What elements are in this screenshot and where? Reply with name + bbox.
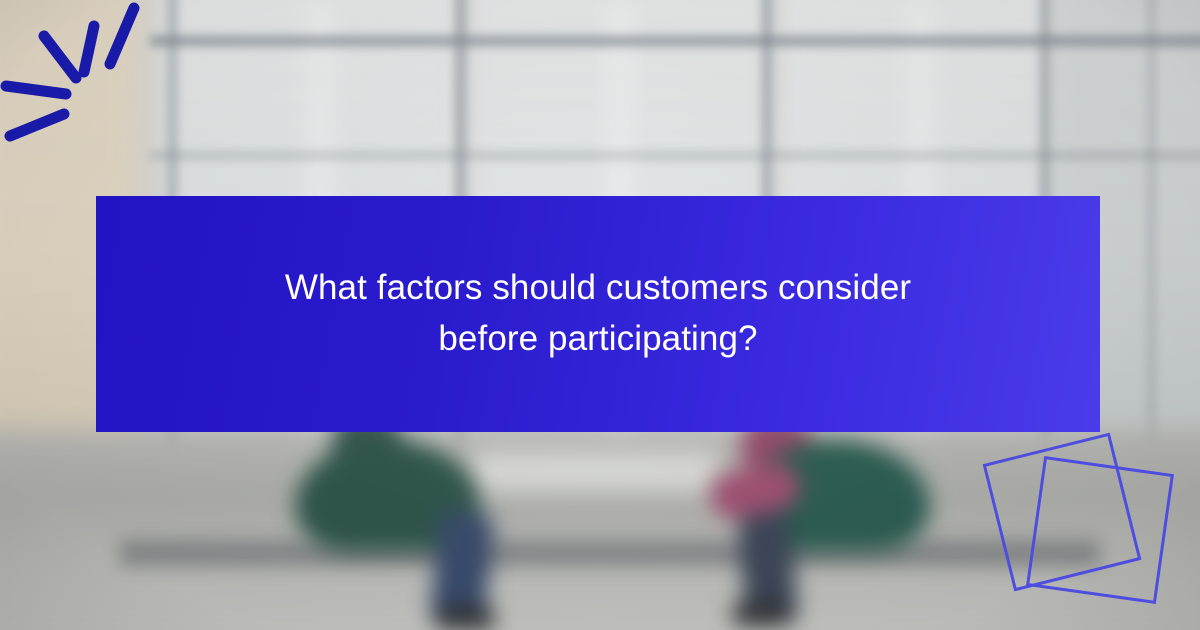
social-card: What factors should customers consider b… [0,0,1200,630]
spark-burst-icon [0,0,200,170]
headline-banner: What factors should customers consider b… [96,196,1100,432]
headline-text: What factors should customers consider b… [248,263,948,365]
outlined-squares-icon [970,400,1200,630]
